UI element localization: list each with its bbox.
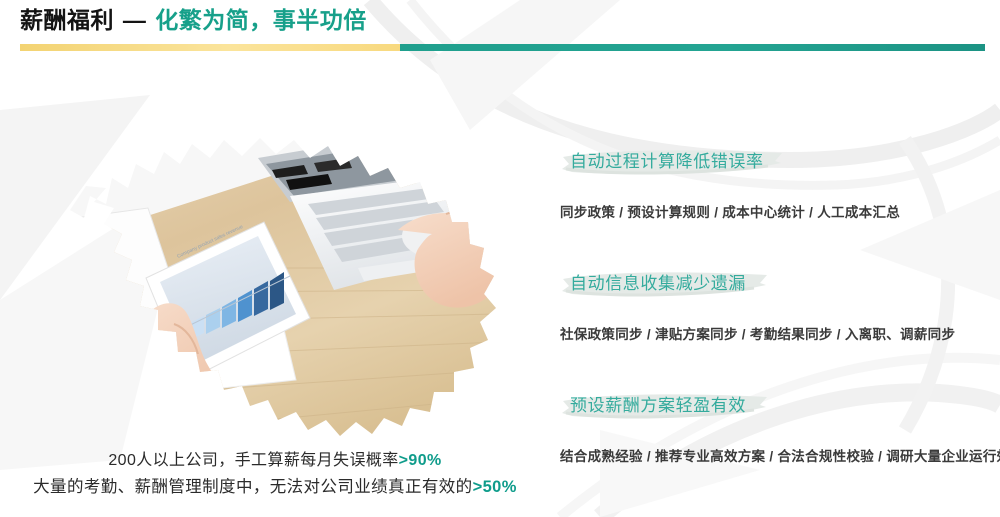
feature-list: 自动过程计算降低错误率 同步政策 / 预设计算规则 / 成本中心统计 / 人工成… [560,145,990,465]
feature-detail-1: 同步政策 / 预设计算规则 / 成本中心统计 / 人工成本汇总 [560,201,990,221]
feature-item-3: 预设薪酬方案轻盈有效 结合成熟经验 / 推荐专业高效方案 / 合法合规性校验 /… [560,389,990,465]
divider-segment-teal [400,44,985,51]
statistic-line-1: 200人以上公司，手工算薪每月失误概率>90% [10,448,540,474]
feature-detail-3: 结合成熟经验 / 推荐专业高效方案 / 合法合规性校验 / 调研大量企业运行效率 [560,445,990,465]
paper-mini-chart [54,278,136,332]
page-title-main: 薪酬福利 [20,7,114,33]
feature-heading-1: 自动过程计算降低错误率 [560,145,790,179]
statistic-line-1-value: >90% [399,452,442,469]
page-title-dash: — [121,7,149,33]
feature-item-2: 自动信息收集减少遗漏 社保政策同步 / 津贴方案同步 / 考勤结果同步 / 入离… [560,267,990,343]
feature-item-1: 自动过程计算降低错误率 同步政策 / 预设计算规则 / 成本中心统计 / 人工成… [560,145,990,221]
statistic-line-1-text: 200人以上公司，手工算薪每月失误概率 [108,452,398,469]
page-title-sub: 化繁为简，事半功倍 [155,7,367,33]
photo-illustration: Company product sales revenue [28,118,508,448]
statistic-line-2-value: >50% [473,478,517,496]
title-divider-rule [20,44,985,51]
feature-heading-3: 预设薪酬方案轻盈有效 [560,389,772,423]
photo-illustration-svg: Company product sales revenue [28,118,508,448]
bg-wedge-top [430,0,620,130]
feature-detail-2: 社保政策同步 / 津贴方案同步 / 考勤结果同步 / 入离职、调薪同步 [560,323,990,343]
statistic-line-2-text: 大量的考勤、薪酬管理制度中，无法对公司业绩真正有效的 [33,478,472,496]
statistics-block: 200人以上公司，手工算薪每月失误概率>90% 大量的考勤、薪酬管理制度中，无法… [10,448,540,500]
slide-canvas: 薪酬福利 — 化繁为简，事半功倍 [0,0,1000,517]
photo-content-group: Company product sales revenue [28,118,508,448]
divider-segment-yellow [20,44,400,51]
feature-heading-2: 自动信息收集减少遗漏 [560,267,772,301]
page-title: 薪酬福利 — 化繁为简，事半功倍 [20,5,367,35]
statistic-line-2: 大量的考勤、薪酬管理制度中，无法对公司业绩真正有效的>50% [10,474,540,500]
